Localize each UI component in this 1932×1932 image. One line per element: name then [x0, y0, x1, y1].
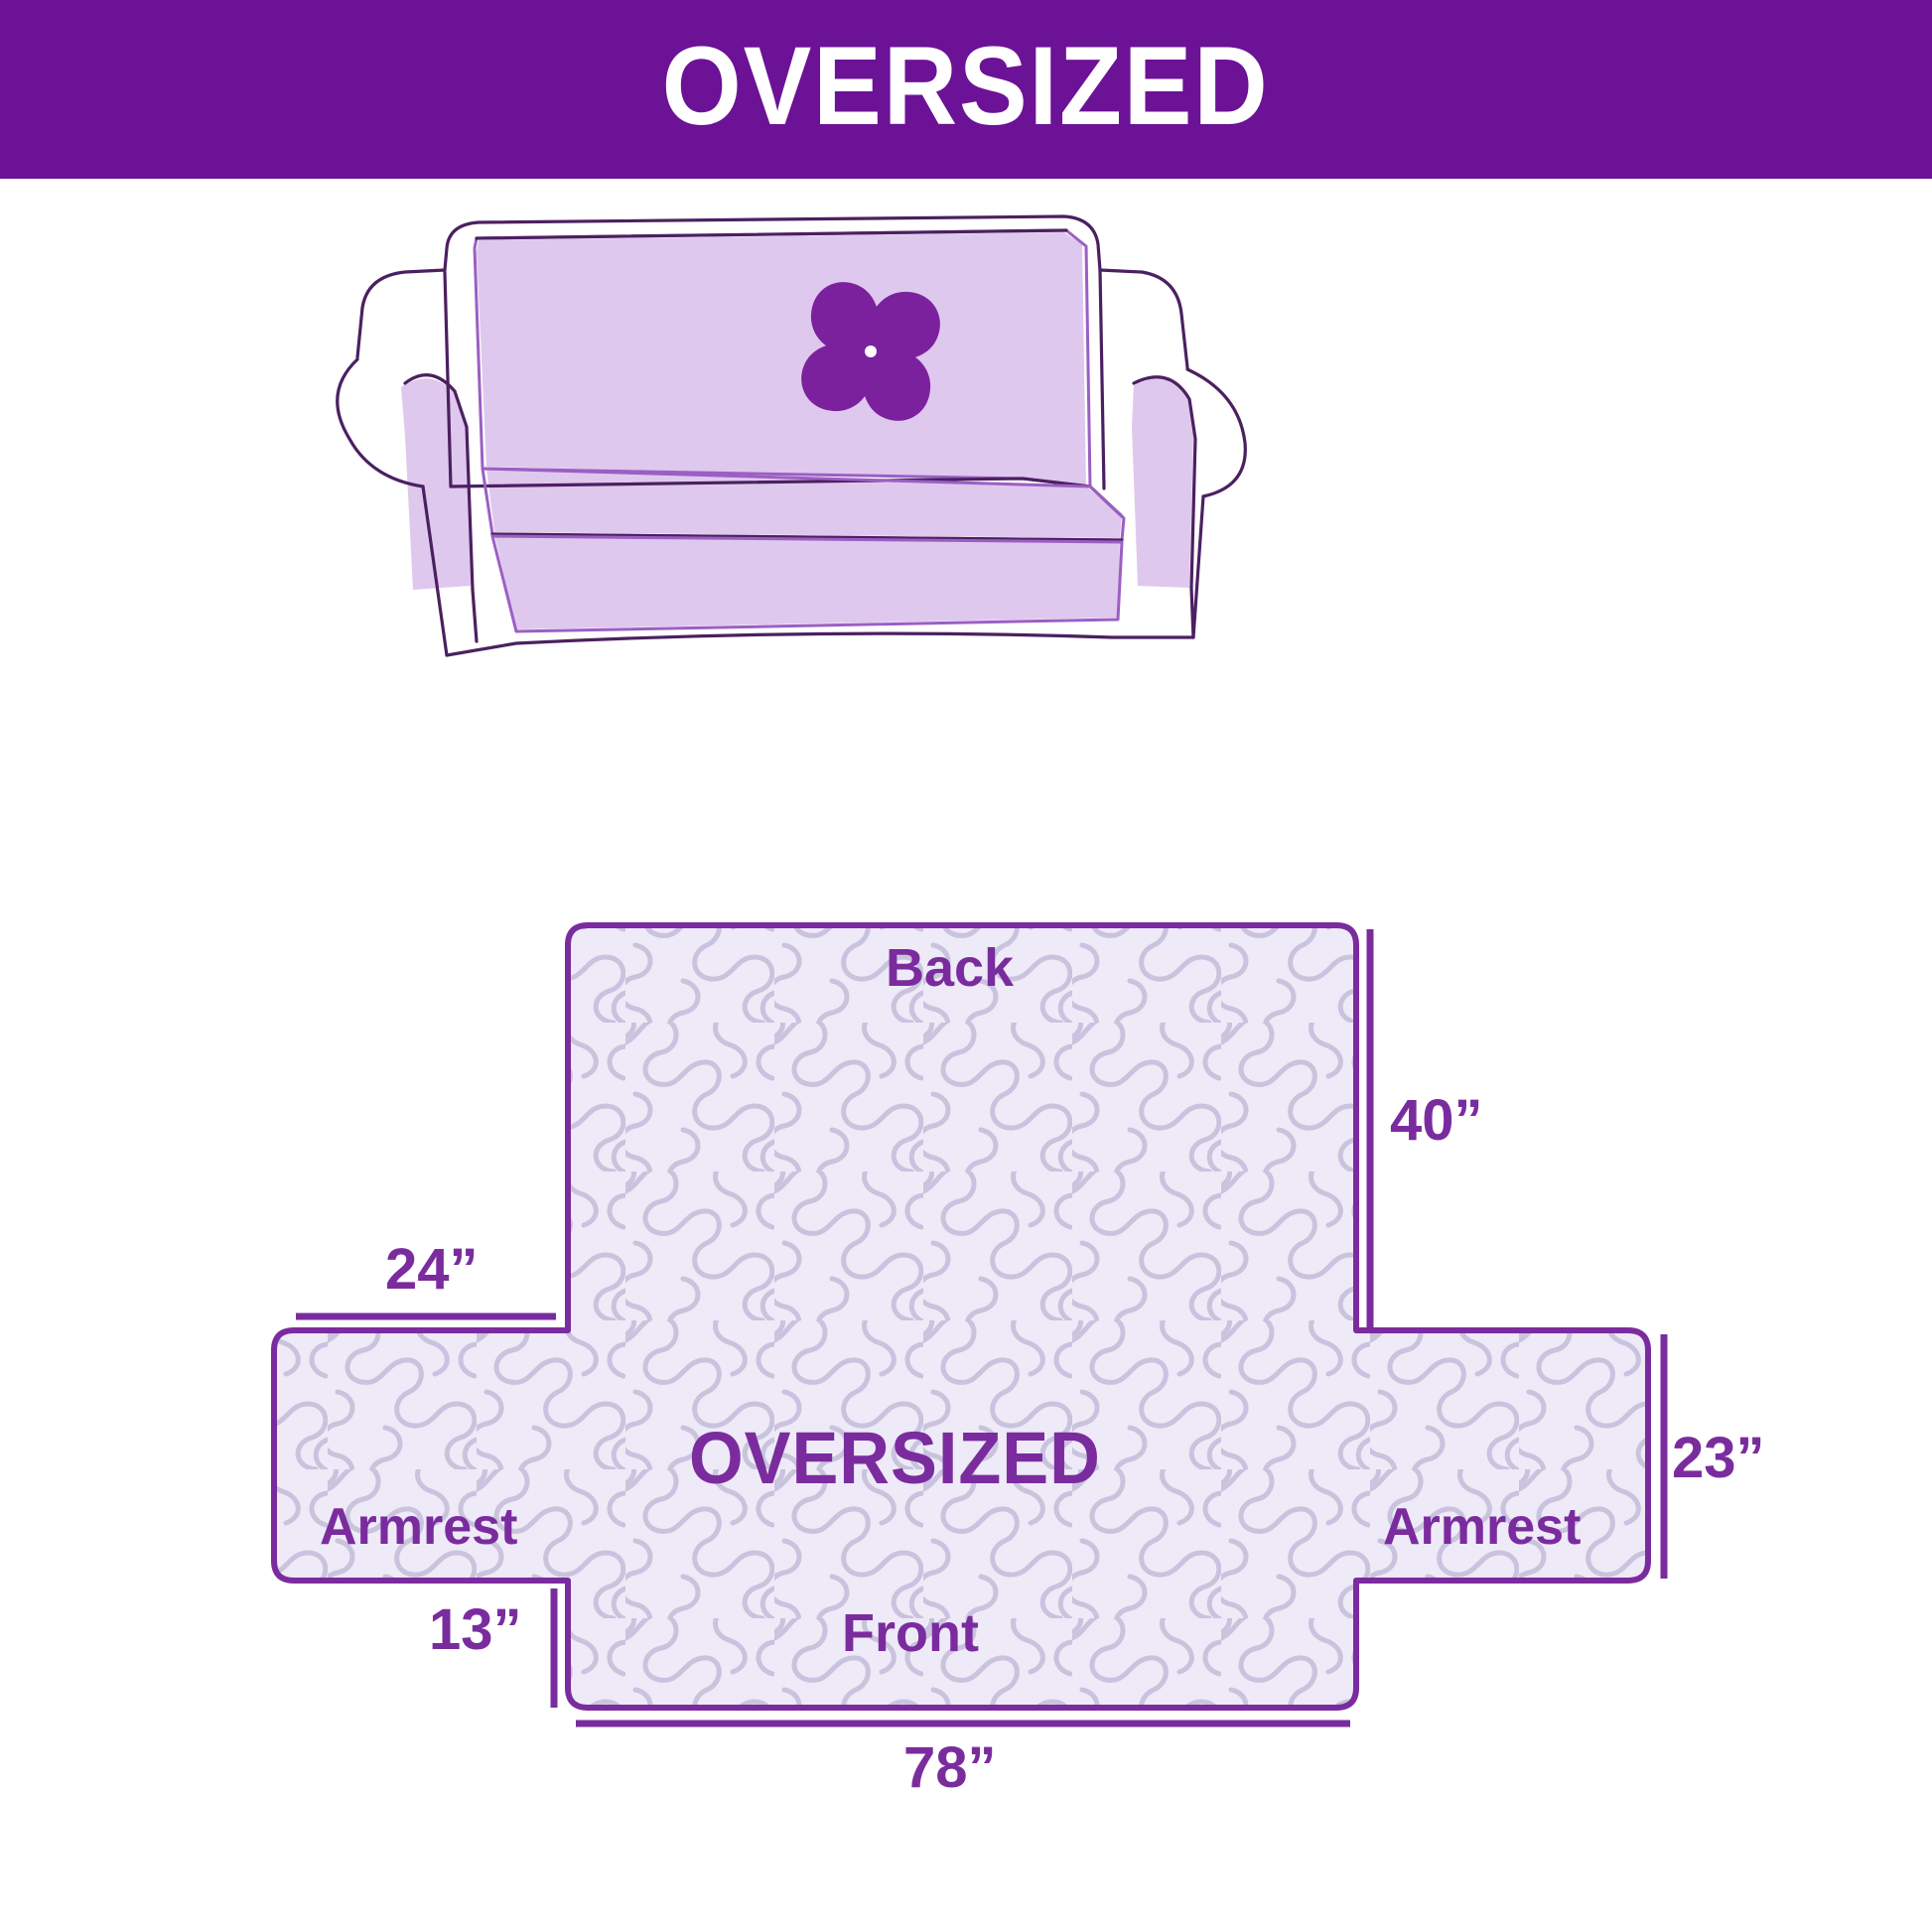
header-banner: OVERSIZED	[0, 0, 1932, 179]
sofa-illustration: .so { fill:none; stroke:#4B2060; stroke-…	[328, 189, 1301, 685]
dimension-label-front-drop: 13”	[429, 1601, 522, 1659]
page-title: OVERSIZED	[662, 31, 1270, 148]
cover-shape-svg: .cover-outline { fill:url(#quilt); strok…	[179, 874, 1926, 1807]
dimension-label-back-height: 40”	[1390, 1092, 1483, 1150]
panel-label-armrest-right: Armrest	[1383, 1501, 1581, 1553]
panel-label-front: Front	[842, 1606, 979, 1660]
cover-center-label: OVERSIZED	[689, 1422, 1101, 1495]
dimension-label-armrest-height: 23”	[1672, 1430, 1765, 1487]
dimension-label-back-offset: 24”	[385, 1241, 479, 1299]
dimension-label-total-width: 78”	[903, 1739, 997, 1797]
panel-label-armrest-left: Armrest	[320, 1501, 517, 1553]
panel-label-back: Back	[886, 941, 1014, 995]
pinwheel-icon	[801, 282, 940, 421]
cover-layout-diagram: .cover-outline { fill:url(#quilt); strok…	[179, 874, 1926, 1807]
sofa-drawing: .so { fill:none; stroke:#4B2060; stroke-…	[328, 189, 1301, 685]
